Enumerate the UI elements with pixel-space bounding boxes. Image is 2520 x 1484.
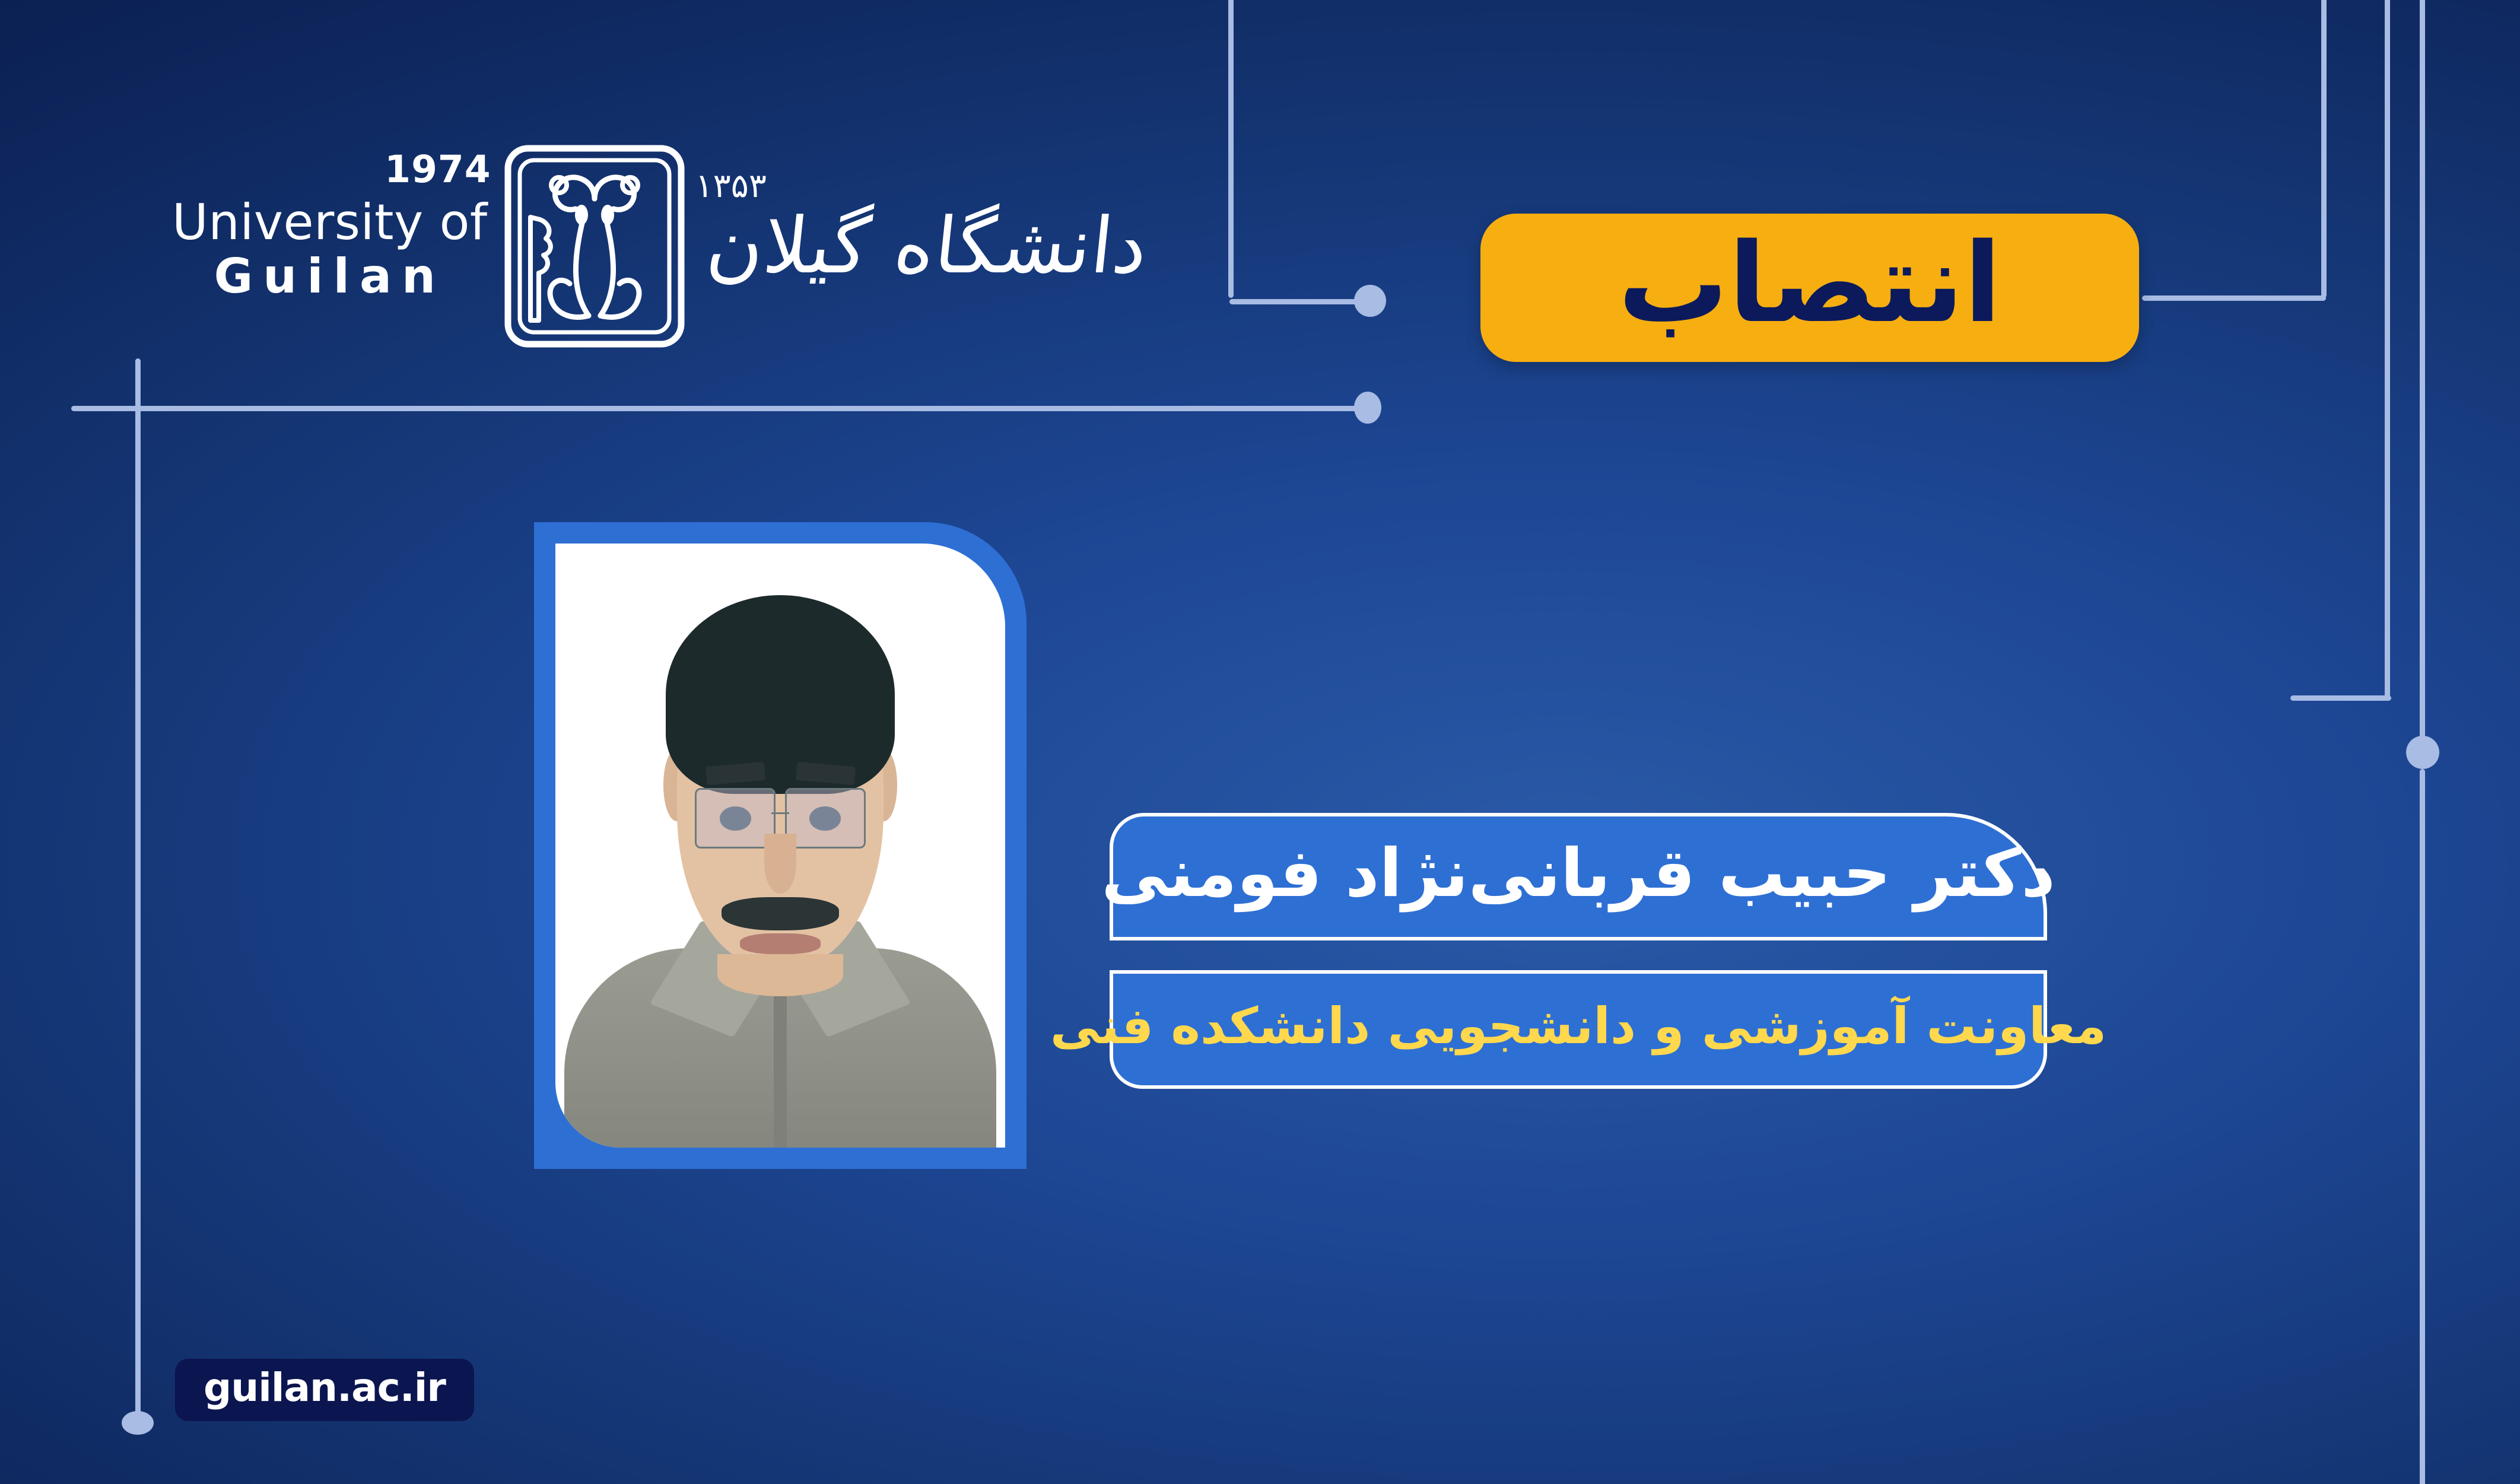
portrait-nose	[764, 834, 796, 894]
portrait-eyeglass-bridge	[771, 812, 789, 814]
website-url: guilan.ac.ir	[204, 1368, 446, 1407]
decorative-line-title-vertical	[2321, 0, 2327, 298]
website-badge[interactable]: guilan.ac.ir	[175, 1359, 474, 1421]
logo-founded-year-gregorian: 1974	[384, 148, 491, 191]
portrait-photo	[555, 544, 1005, 1148]
guilan-emblem-icon	[500, 142, 689, 350]
decorative-line-title-horizontal	[2142, 295, 2326, 301]
decorative-line-left-vertical	[135, 358, 141, 1421]
decorative-dot-top-right	[1354, 392, 1381, 424]
decorative-dot-left-bottom	[122, 1411, 154, 1435]
person-role: معاونت آموزشی و دانشجویی دانشکده فنی	[1050, 1001, 2106, 1051]
appointment-title-label: انتصاب	[1618, 228, 2001, 338]
person-name-banner: دکتر حبیب قربانی‌نژاد فومنی	[1110, 813, 2047, 940]
decorative-line-right-inner-horizontal	[2290, 695, 2391, 701]
logo-persian-block: ۱۳۵۳ دانشگاه گیلان	[701, 194, 1147, 298]
logo-guilan-word: Guilan	[172, 247, 488, 306]
person-name: دکتر حبیب قربانی‌نژاد فومنی	[1101, 840, 2055, 907]
decorative-dot-right-edge	[2406, 736, 2439, 769]
portrait-eyeglass-left	[695, 788, 776, 849]
appointment-poster: 1974 University of Guilan ۱۳۵۳ دانشگاه گ…	[0, 0, 2520, 1484]
university-logo: 1974 University of Guilan ۱۳۵۳ دانشگاه گ…	[172, 142, 1147, 350]
portrait-chin	[717, 954, 843, 996]
logo-university-word: University of	[172, 198, 488, 247]
decorative-line-center-horizontal	[1229, 299, 1372, 304]
decorative-dot-center	[1354, 285, 1386, 317]
logo-english-block: 1974 University of Guilan	[172, 187, 488, 306]
logo-persian-name: دانشگاه گیلان	[701, 194, 1152, 298]
decorative-line-right-outer-vertical	[2420, 0, 2425, 743]
person-role-banner: معاونت آموزشی و دانشجویی دانشکده فنی	[1110, 970, 2047, 1089]
appointment-title-badge: انتصاب	[1480, 214, 2139, 362]
portrait-hair	[666, 595, 895, 795]
decorative-line-right-inner-vertical	[2385, 0, 2390, 700]
portrait-eyeglass-right	[785, 788, 866, 849]
portrait-frame	[534, 522, 1027, 1169]
portrait-moustache	[722, 897, 838, 930]
decorative-line-right-outer-tail	[2420, 769, 2425, 1484]
decorative-line-top-horizontal	[71, 406, 1371, 411]
decorative-line-center-vertical	[1228, 0, 1234, 298]
portrait-mouth	[740, 933, 821, 955]
